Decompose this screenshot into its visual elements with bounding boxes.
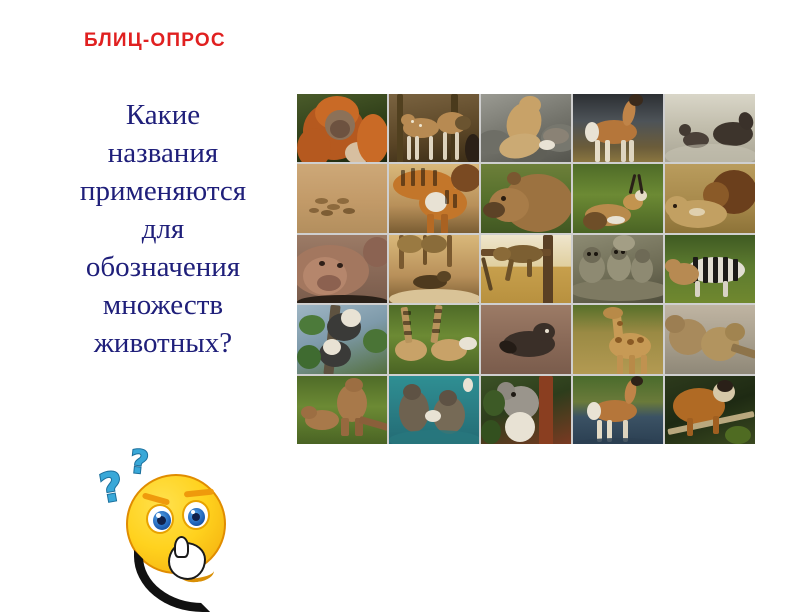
question-line-7: животных? — [34, 324, 292, 362]
animal-photo-giraffe — [573, 305, 663, 373]
animal-photo-orangutan — [297, 94, 387, 162]
emoji-hand — [168, 542, 206, 580]
animal-photo-tigers — [389, 164, 479, 232]
animal-photo-sea-lions-rocks — [481, 94, 571, 162]
animal-photo-grid — [297, 94, 755, 444]
thinking-face-emoji: ? ? — [96, 446, 246, 598]
animal-photo-bears-water — [389, 376, 479, 444]
animal-photo-kangaroos-meadow — [297, 376, 387, 444]
animal-photo-antelope-grass — [573, 164, 663, 232]
animal-photo-lions — [665, 164, 755, 232]
animal-photo-pandas-tree — [297, 305, 387, 373]
animal-photo-kangaroos-sand — [665, 305, 755, 373]
animal-photo-seal-beach — [481, 305, 571, 373]
animal-photo-walrus — [297, 235, 387, 303]
animal-photo-antelope-savanna — [389, 235, 479, 303]
page-title: БЛИЦ-ОПРОС — [84, 30, 226, 52]
question-mark-small-icon: ? — [128, 445, 150, 479]
emoji-eye-right — [182, 500, 210, 530]
animal-photo-zebras — [665, 235, 755, 303]
animal-photo-monkeys-log — [573, 235, 663, 303]
question-mark-large-icon: ? — [97, 466, 127, 509]
animal-photo-deer — [389, 94, 479, 162]
animal-photo-guanaco-river — [573, 376, 663, 444]
question-line-3: применяются — [34, 172, 292, 210]
emoji-brow-right — [184, 488, 214, 497]
animal-photo-squirrel-monkey — [665, 376, 755, 444]
question-text: Какие названия применяются для обозначен… — [34, 96, 292, 362]
animal-photo-brown-bear — [481, 164, 571, 232]
animal-photo-antelopes-desert — [297, 164, 387, 232]
animal-photo-leopard-tree — [481, 235, 571, 303]
animal-photo-koala — [481, 376, 571, 444]
animal-photo-coatis — [389, 305, 479, 373]
emoji-eye-left — [146, 504, 174, 534]
question-line-6: множеств — [34, 286, 292, 324]
question-line-5: обозначения — [34, 248, 292, 286]
animal-photo-guanaco — [573, 94, 663, 162]
question-line-1: Какие — [34, 96, 292, 134]
question-line-4: для — [34, 210, 292, 248]
question-line-2: названия — [34, 134, 292, 172]
animal-photo-seals-water — [665, 94, 755, 162]
